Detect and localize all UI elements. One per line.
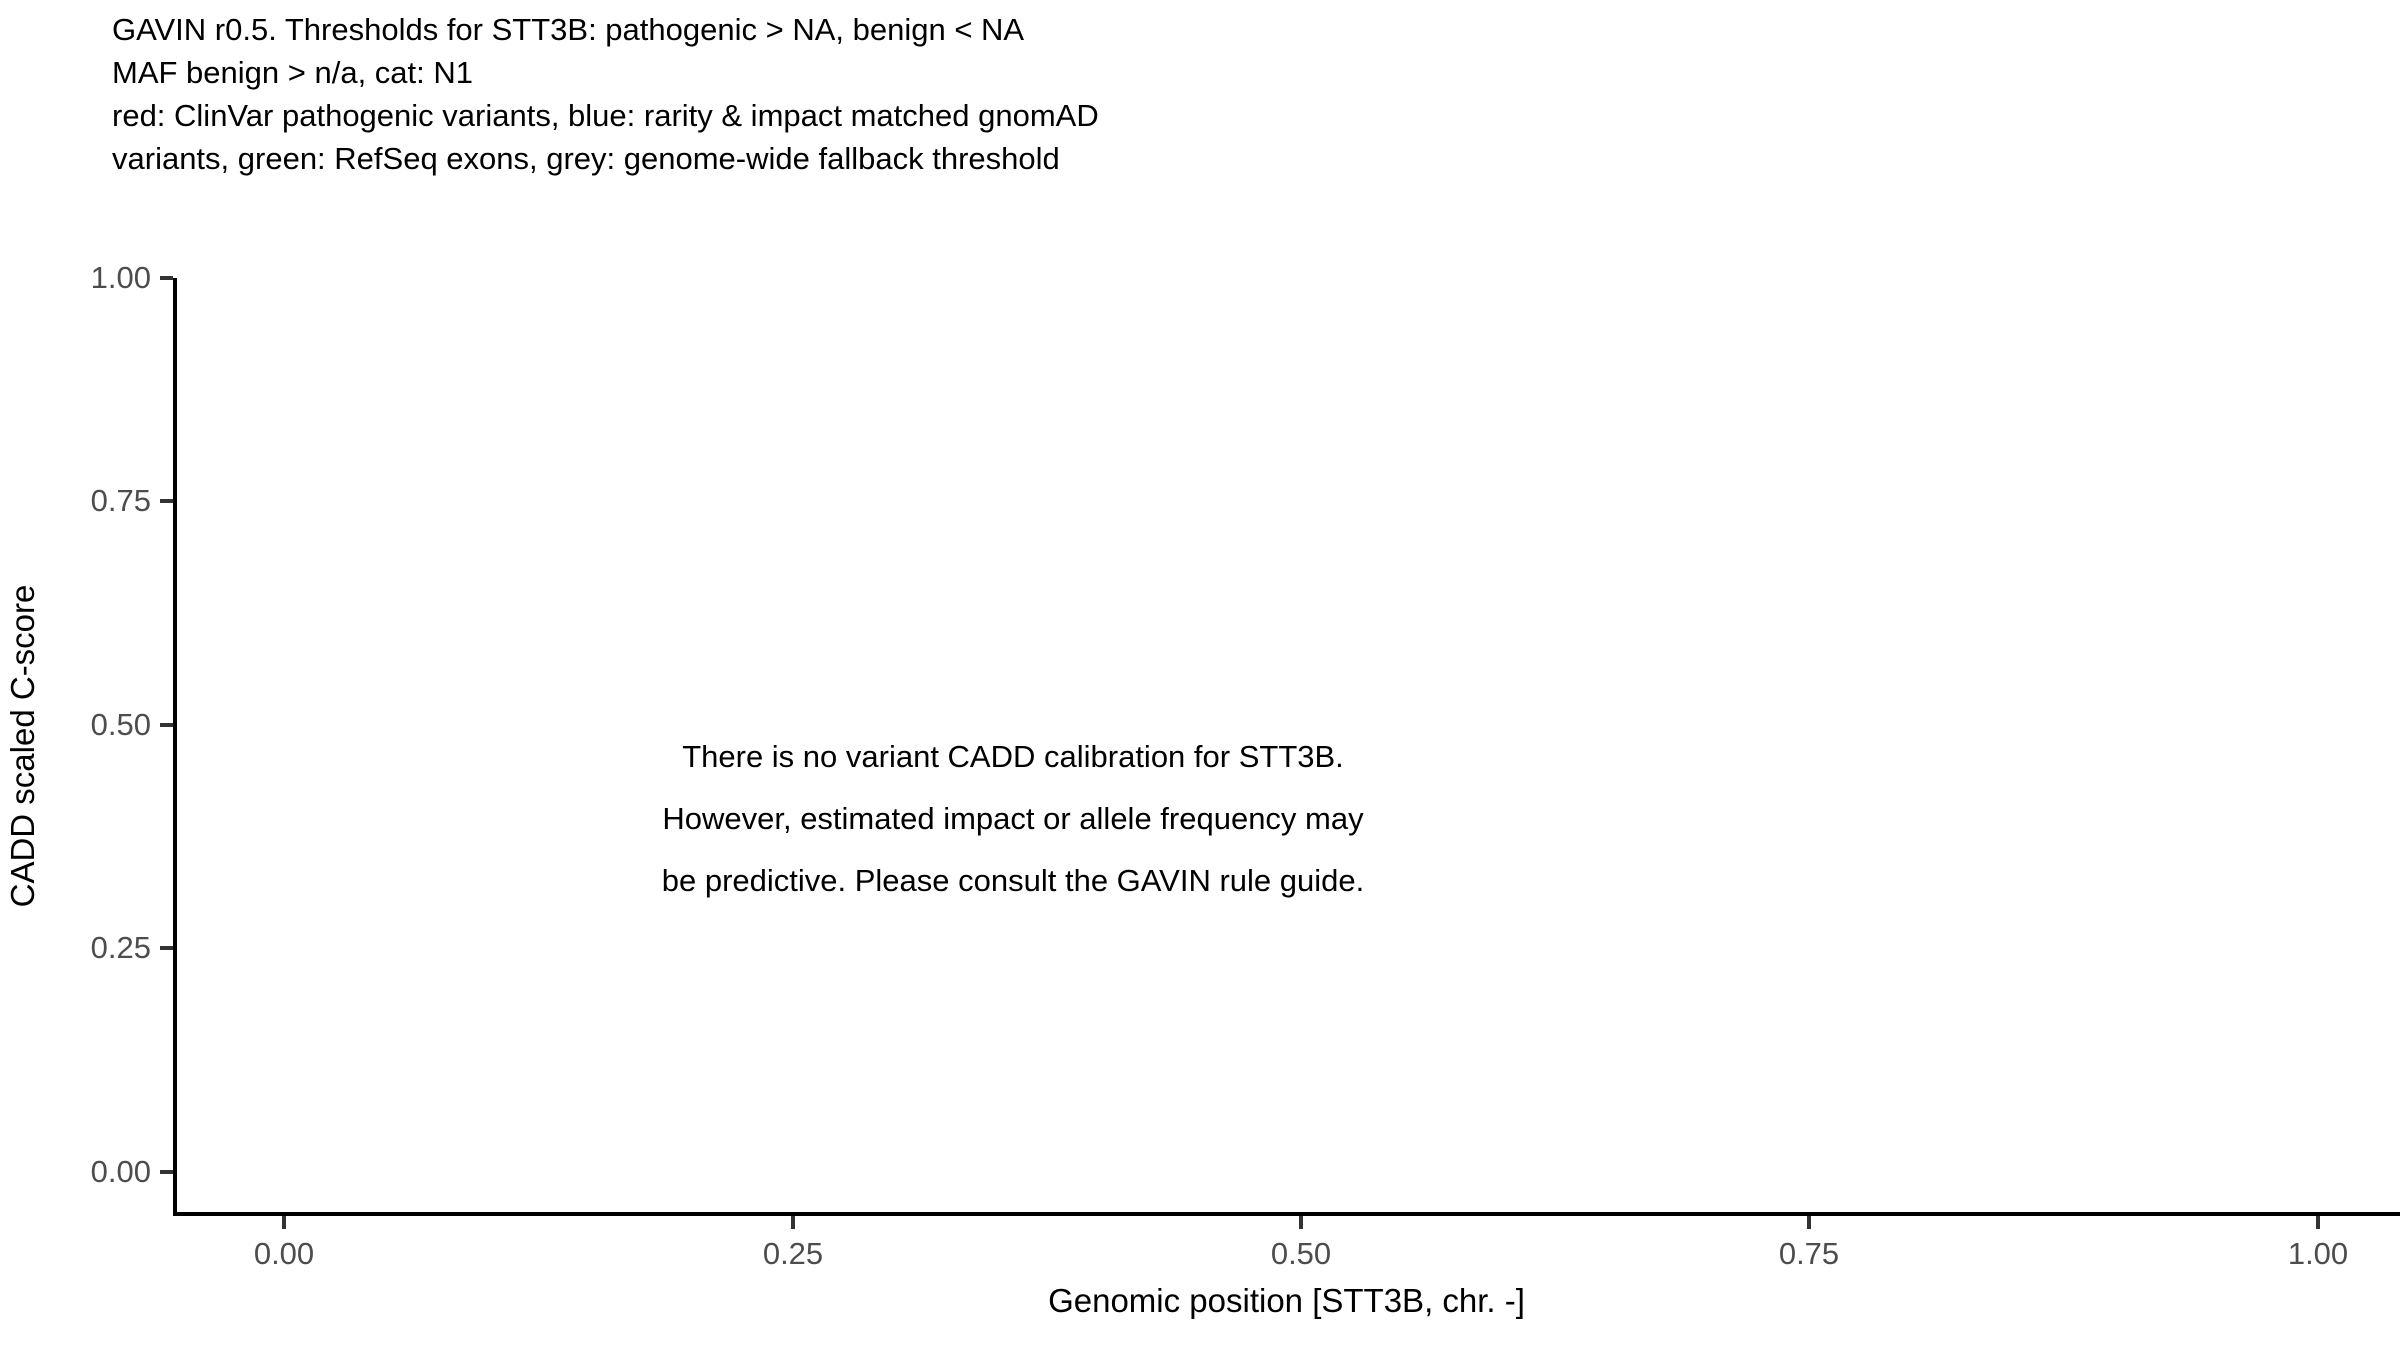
y-axis-tick-label: 0.75 <box>91 481 151 521</box>
x-axis-tick-label: 0.50 <box>1201 1234 1401 1274</box>
x-axis-tick-label: 0.75 <box>1709 1234 1909 1274</box>
message-line-2: However, estimated impact or allele freq… <box>578 788 1448 850</box>
x-axis-tick-mark <box>2316 1216 2320 1229</box>
y-axis-tick-label: 0.50 <box>91 705 151 745</box>
x-axis-tick-mark <box>791 1216 795 1229</box>
plot-title-line-2: MAF benign > n/a, cat: N1 <box>112 51 2012 94</box>
y-axis-tick-label: 1.00 <box>91 258 151 298</box>
x-axis-title: Genomic position [STT3B, chr. -] <box>173 1281 2400 1321</box>
y-axis-tick-0.50: 0.50 <box>0 705 173 745</box>
x-axis-tick-label: 1.00 <box>2218 1234 2400 1274</box>
y-axis-tick-0.75: 0.75 <box>0 481 173 521</box>
x-axis-line <box>173 1212 2400 1216</box>
no-calibration-message: There is no variant CADD calibration for… <box>578 726 1448 912</box>
plot-panel: There is no variant CADD calibration for… <box>173 278 2400 1213</box>
y-axis-tick-mark <box>160 499 173 503</box>
y-axis-tick-mark <box>160 276 173 280</box>
x-axis-tick-label: 0.25 <box>693 1234 893 1274</box>
message-line-1: There is no variant CADD calibration for… <box>578 726 1448 788</box>
y-axis-tick-1.00: 1.00 <box>0 258 173 298</box>
plot-title: GAVIN r0.5. Thresholds for STT3B: pathog… <box>112 8 2012 180</box>
y-axis-tick-0.25: 0.25 <box>0 928 173 968</box>
y-axis-tick-mark <box>160 946 173 950</box>
plot-title-line-1: GAVIN r0.5. Thresholds for STT3B: pathog… <box>112 8 2012 51</box>
x-axis-tick-mark <box>1299 1216 1303 1229</box>
x-axis-tick-mark <box>282 1216 286 1229</box>
message-line-3: be predictive. Please consult the GAVIN … <box>578 850 1448 912</box>
y-axis-tick-0.00: 0.00 <box>0 1152 173 1192</box>
plot-title-line-3: red: ClinVar pathogenic variants, blue: … <box>112 94 2012 137</box>
y-axis-tick-mark <box>160 723 173 727</box>
plot-title-line-4: variants, green: RefSeq exons, grey: gen… <box>112 137 2012 180</box>
x-axis-tick-label: 0.00 <box>184 1234 384 1274</box>
y-axis-tick-mark <box>160 1170 173 1174</box>
x-axis-tick-mark <box>1807 1216 1811 1229</box>
y-axis-tick-label: 0.00 <box>91 1152 151 1192</box>
y-axis-tick-label: 0.25 <box>91 928 151 968</box>
y-axis-title: CADD scaled C-score <box>0 216 46 1276</box>
